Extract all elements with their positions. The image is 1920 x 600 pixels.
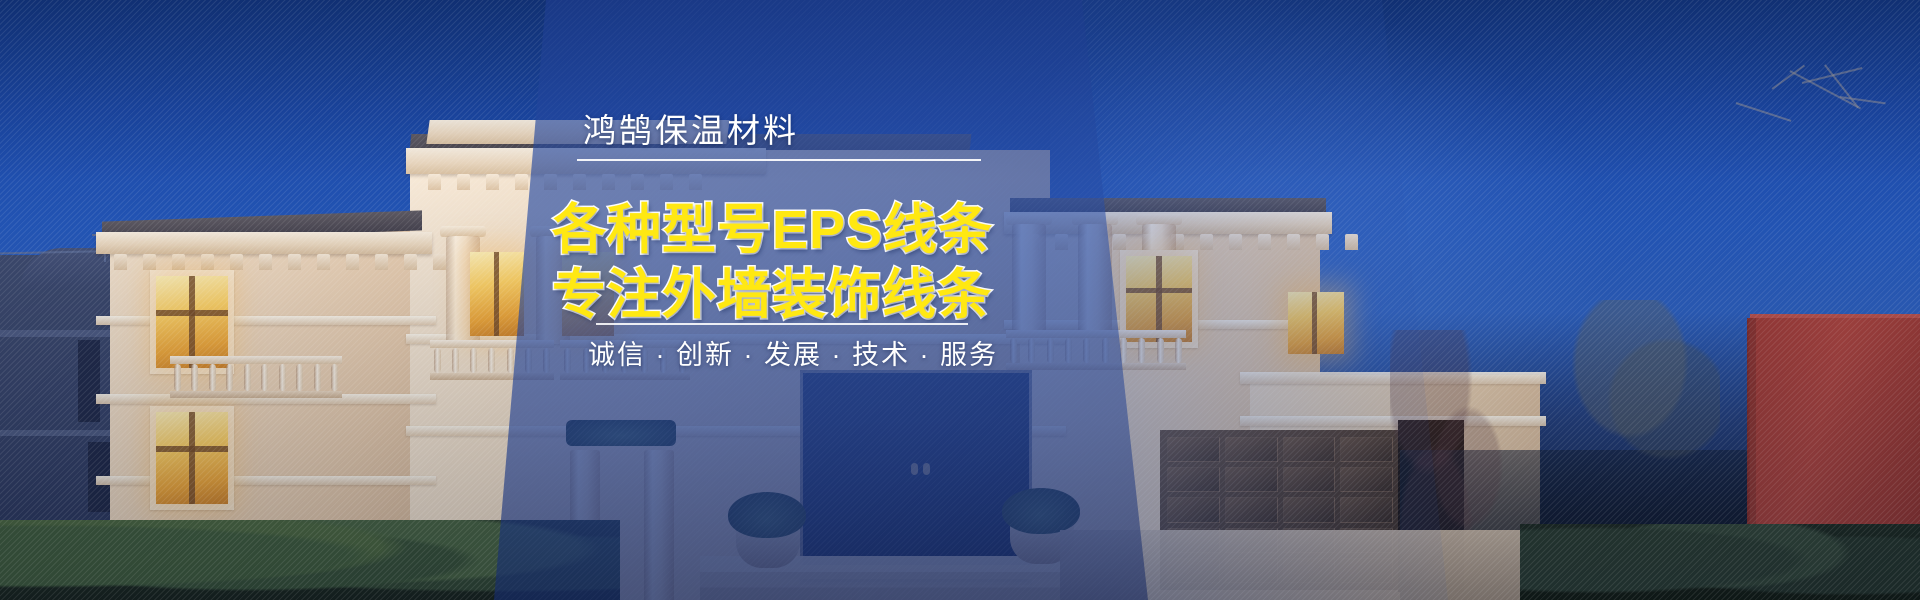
- window-transom: [156, 310, 228, 316]
- headline-line-2: 专注外墙装饰线条: [552, 250, 992, 329]
- portico-column: [1078, 224, 1112, 332]
- divider-line-top: [577, 159, 981, 161]
- promo-banner: 鸿鹄保温材料 各种型号EPS线条 专注外墙装饰线条 诚信 · 创新 · 发展 ·…: [0, 0, 1920, 600]
- window-transom: [1126, 288, 1192, 293]
- left-wing-eave: [96, 232, 432, 254]
- divider-line-bottom: [596, 323, 968, 325]
- window-mullion: [189, 412, 195, 504]
- banner-copy-block: 鸿鹄保温材料 各种型号EPS线条 专注外墙装饰线条 诚信 · 创新 · 发展 ·…: [560, 0, 1030, 600]
- driveway: [1060, 530, 1580, 600]
- balcony-balustrade: [170, 356, 342, 398]
- window-transom: [156, 446, 228, 452]
- background-window: [78, 340, 100, 422]
- foreground-hedge-left: [0, 520, 620, 600]
- balcony-balustrade: [1006, 330, 1186, 370]
- balcony-balustrade: [430, 340, 554, 380]
- background-tree: [1570, 300, 1720, 480]
- left-wing-dentils: [114, 254, 446, 270]
- company-name: 鸿鹄保温材料: [583, 104, 799, 152]
- right-wing-dentils: [1026, 234, 1358, 250]
- window-mullion: [189, 276, 195, 368]
- foreground-hedge-right: [1520, 524, 1920, 600]
- cornice-band: [96, 316, 436, 325]
- cornice-band: [96, 476, 436, 485]
- window-mullion: [1312, 292, 1317, 354]
- window-mullion: [494, 252, 499, 336]
- bare-tree-branches: [1540, 30, 1880, 260]
- tagline: 诚信 · 创新 · 发展 · 技术 · 服务: [588, 333, 998, 372]
